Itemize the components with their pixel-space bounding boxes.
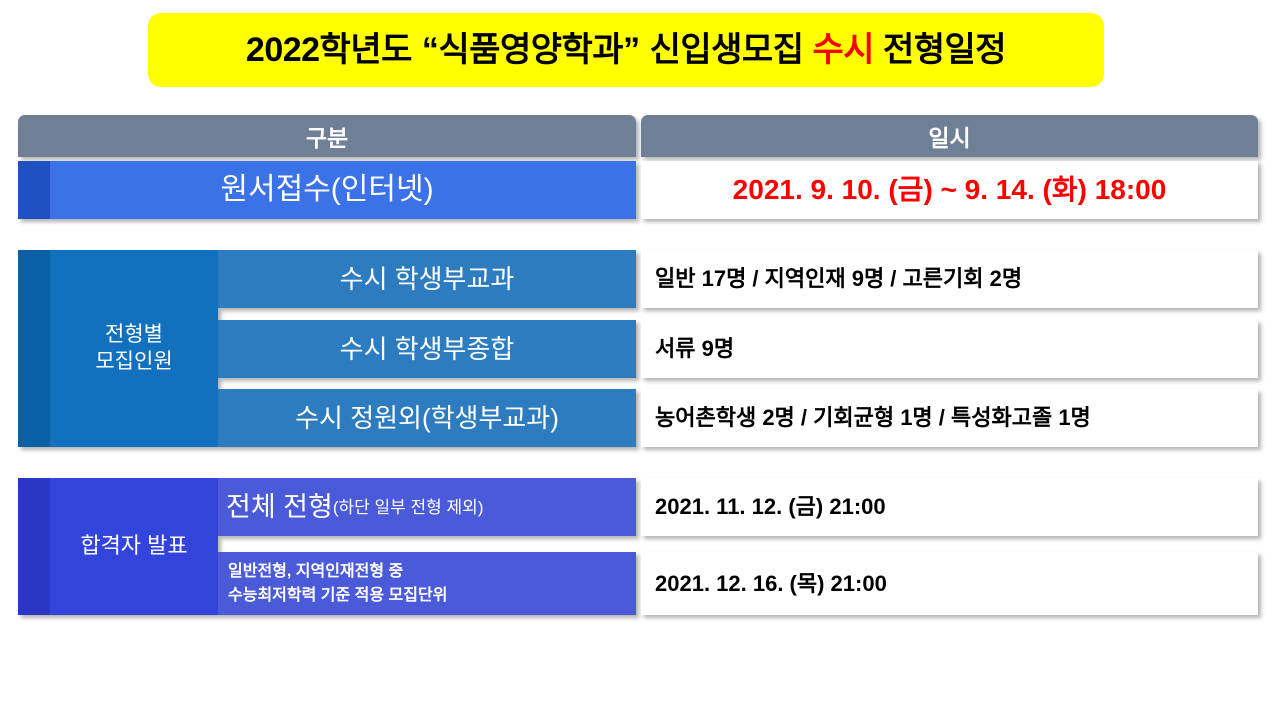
group-accent-stripe: [18, 478, 50, 615]
row-announcement-minimum-value: 2021. 12. 16. (목) 21:00: [641, 552, 1258, 615]
group-announcement-label: 합격자 발표: [18, 478, 218, 615]
row-quota-subject-name-text: 수시 학생부교과: [340, 266, 515, 292]
row-quota-comprehensive-name-text: 수시 학생부종합: [340, 336, 515, 362]
group-accent-stripe: [18, 250, 50, 447]
group-quota-label-line2: 모집인원: [50, 349, 218, 376]
title-part-schedule: 전형일정: [883, 31, 1006, 69]
row-quota-subject-value-text: 일반 17명 / 지역인재 9명 / 고른기회 2명: [655, 268, 1022, 290]
row-quota-extra-name-text: 수시 정원외(학생부교과): [295, 405, 559, 431]
row-application-value-text: 2021. 9. 10. (금) ~ 9. 14. (화) 18:00: [733, 176, 1167, 204]
row-quota-comprehensive-value: 서류 9명: [641, 320, 1258, 378]
column-header-category: 구분: [18, 115, 636, 157]
title-part-admission: 신입생모집: [650, 31, 804, 69]
group-quota-label-text: 전형별 모집인원: [50, 322, 218, 376]
row-quota-subject-name: 수시 학생부교과: [218, 250, 636, 308]
row-accent-stripe: [18, 161, 50, 219]
row-announcement-all-name: 전체 전형(하단 일부 전형 제외): [218, 478, 636, 536]
row-announcement-minimum-value-text: 2021. 12. 16. (목) 21:00: [655, 573, 887, 595]
row-announcement-all-value-text: 2021. 11. 12. (금) 21:00: [655, 496, 886, 518]
row-application-label-text: 원서접수(인터넷): [50, 175, 636, 205]
title-highlight-susi: 수시: [812, 31, 874, 69]
column-header-datetime: 일시: [641, 115, 1258, 157]
title-part-department: “식품영양학과”: [422, 31, 640, 69]
row-announcement-minimum-name-line1: 일반전형, 지역인재전형 중: [228, 560, 636, 583]
row-application-label: 원서접수(인터넷): [18, 161, 636, 219]
row-quota-extra-name: 수시 정원외(학생부교과): [218, 389, 636, 447]
row-announcement-all-value: 2021. 11. 12. (금) 21:00: [641, 478, 1258, 536]
row-announcement-all-name-note: (하단 일부 전형 제외): [333, 499, 484, 516]
row-quota-extra-value-text: 농어촌학생 2명 / 기회균형 1명 / 특성화고졸 1명: [655, 407, 1091, 429]
row-quota-extra-value: 농어촌학생 2명 / 기회균형 1명 / 특성화고졸 1명: [641, 389, 1258, 447]
column-header-datetime-label: 일시: [928, 119, 970, 153]
row-quota-comprehensive-name: 수시 학생부종합: [218, 320, 636, 378]
row-application-value: 2021. 9. 10. (금) ~ 9. 14. (화) 18:00: [641, 161, 1258, 219]
row-announcement-minimum-name: 일반전형, 지역인재전형 중 수능최저학력 기준 적용 모집단위: [218, 552, 636, 615]
column-header-category-label: 구분: [306, 119, 348, 153]
row-quota-subject-value: 일반 17명 / 지역인재 9명 / 고른기회 2명: [641, 250, 1258, 308]
row-announcement-all-name-main: 전체 전형: [226, 494, 333, 521]
row-announcement-minimum-name-line2: 수능최저학력 기준 적용 모집단위: [228, 584, 636, 607]
title-banner: 2022학년도“식품영양학과”신입생모집 수시 전형일정: [148, 13, 1104, 87]
title-part-year: 2022학년도: [246, 31, 412, 69]
row-quota-comprehensive-value-text: 서류 9명: [655, 338, 734, 360]
page-title: 2022학년도“식품영양학과”신입생모집 수시 전형일정: [246, 33, 1006, 67]
group-quota-label: 전형별 모집인원: [18, 250, 218, 447]
group-quota-label-line1: 전형별: [50, 322, 218, 349]
group-announcement-label-text: 합격자 발표: [50, 533, 218, 559]
